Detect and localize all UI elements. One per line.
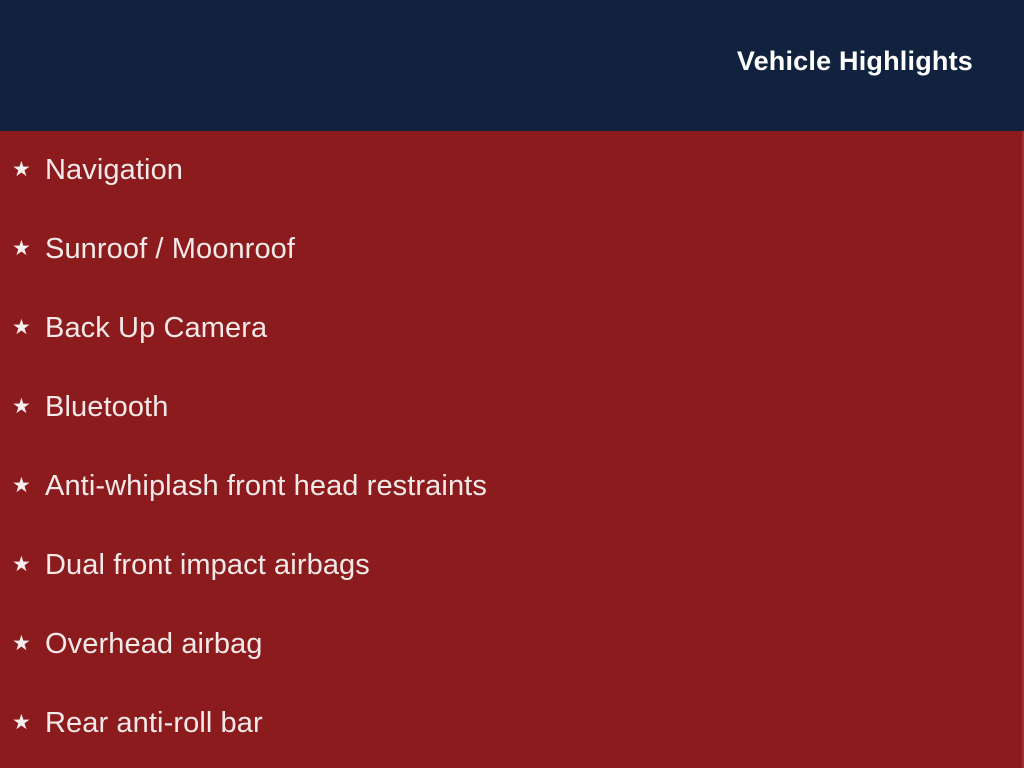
list-item: ★ Rear anti-roll bar (0, 684, 1024, 763)
list-item: ★ Navigation (0, 131, 1024, 210)
list-item-label: Overhead airbag (45, 629, 263, 661)
star-bullet-icon: ★ (12, 712, 45, 733)
list-item: ★ Overhead airbag (0, 605, 1024, 684)
list-item: ★ Anti-whiplash front head restraints (0, 447, 1024, 526)
vehicle-highlights-list: ★ Navigation ★ Sunroof / Moonroof ★ Back… (0, 131, 1024, 768)
star-bullet-icon: ★ (12, 396, 45, 417)
list-item-label: Sunroof / Moonroof (45, 234, 295, 266)
list-item-label: Navigation (45, 155, 183, 187)
list-item-label: Dual front impact airbags (45, 550, 370, 582)
slide-header-band: Vehicle Highlights (0, 0, 1024, 131)
list-item-label: Back Up Camera (45, 313, 267, 345)
list-item-label: Rear anti-roll bar (45, 708, 263, 740)
presentation-slide: Vehicle Highlights ★ Navigation ★ Sunroo… (0, 0, 1024, 768)
list-item-label: Anti-whiplash front head restraints (45, 471, 487, 503)
page-title: Vehicle Highlights (737, 48, 973, 75)
list-item: ★ Back Up Camera (0, 289, 1024, 368)
list-item: ★ Dual front impact airbags (0, 526, 1024, 605)
list-item: ★ Sunroof / Moonroof (0, 210, 1024, 289)
star-bullet-icon: ★ (12, 633, 45, 654)
star-bullet-icon: ★ (12, 159, 45, 180)
list-item: ★ Bluetooth (0, 368, 1024, 447)
star-bullet-icon: ★ (12, 554, 45, 575)
star-bullet-icon: ★ (12, 475, 45, 496)
star-bullet-icon: ★ (12, 317, 45, 338)
list-item-label: Bluetooth (45, 392, 168, 424)
star-bullet-icon: ★ (12, 238, 45, 259)
